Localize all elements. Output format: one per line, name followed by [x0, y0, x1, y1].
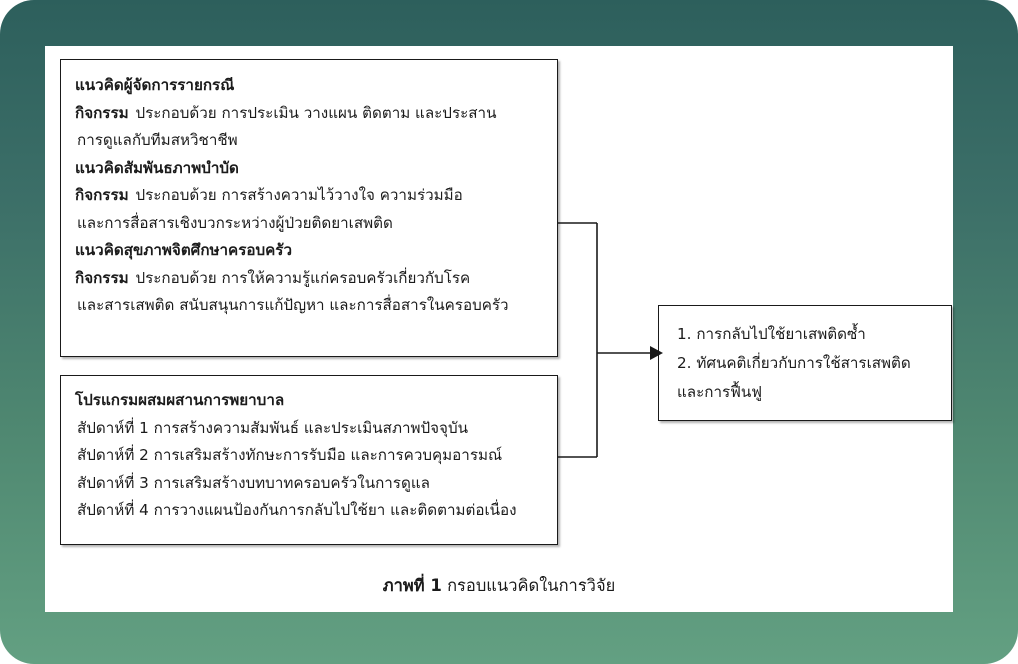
concepts-line: แนวคิดสุขภาพจิตศึกษาครอบครัว [75, 237, 543, 265]
figure-caption-label: ภาพที่ 1 [383, 576, 442, 595]
program-line-rest: สัปดาห์ที่ 4 การวางแผนป้องกันการกลับไปใช… [77, 501, 517, 519]
program-line-lead: โปรแกรมผสมผสานการพยาบาล [75, 391, 284, 409]
concepts-line-lead: กิจกรรม [75, 186, 129, 204]
figure-page: แนวคิดผู้จัดการรายกรณี กิจกรรม ประกอบด้ว… [45, 46, 953, 612]
concepts-line-rest: ประกอบด้วย การให้ความรู้แก่ครอบครัวเกี่ย… [131, 269, 471, 287]
concepts-line: แนวคิดสัมพันธภาพบำบัด [75, 155, 543, 183]
program-line-rest: สัปดาห์ที่ 2 การเสริมสร้างทักษะการรับมือ… [77, 446, 502, 464]
program-line-rest: สัปดาห์ที่ 1 การสร้างความสัมพันธ์ และประ… [77, 419, 468, 437]
outcomes-line-rest: 1. การกลับไปใช้ยาเสพติดซ้ำ [677, 325, 866, 343]
program-line: โปรแกรมผสมผสานการพยาบาล [75, 387, 543, 415]
outcomes-line-rest: และการฟื้นฟู [677, 383, 762, 401]
program-line: สัปดาห์ที่ 3 การเสริมสร้างบทบาทครอบครัวใ… [75, 470, 543, 498]
outcomes-line: และการฟื้นฟู [675, 378, 935, 407]
program-box: โปรแกรมผสมผสานการพยาบาล สัปดาห์ที่ 1 การ… [60, 375, 558, 545]
concepts-line-rest: ประกอบด้วย การประเมิน วางแผน ติดตาม และป… [131, 104, 497, 122]
concepts-line-rest: และสารเสพติด สนับสนุนการแก้ปัญหา และการส… [77, 296, 509, 314]
concepts-line-lead: กิจกรรม [75, 269, 129, 287]
concepts-line-rest: ประกอบด้วย การสร้างความไว้วางใจ ความร่วม… [131, 186, 463, 204]
concepts-line: กิจกรรม ประกอบด้วย การสร้างความไว้วางใจ … [75, 182, 543, 210]
figure-caption-text: กรอบแนวคิดในการวิจัย [447, 576, 615, 595]
slide-background: แนวคิดผู้จัดการรายกรณี กิจกรรม ประกอบด้ว… [0, 0, 1018, 664]
program-line: สัปดาห์ที่ 1 การสร้างความสัมพันธ์ และประ… [75, 415, 543, 443]
concepts-line: กิจกรรม ประกอบด้วย การประเมิน วางแผน ติด… [75, 100, 543, 128]
concepts-line-rest: การดูแลกับทีมสหวิชาชีพ [77, 131, 238, 149]
concepts-line: และสารเสพติด สนับสนุนการแก้ปัญหา และการส… [75, 292, 543, 320]
concepts-line-lead: แนวคิดผู้จัดการรายกรณี [75, 76, 234, 94]
concepts-line: กิจกรรม ประกอบด้วย การให้ความรู้แก่ครอบค… [75, 265, 543, 293]
outcomes-box: 1. การกลับไปใช้ยาเสพติดซ้ำ 2. ทัศนคติเกี… [658, 305, 952, 421]
program-line-rest: สัปดาห์ที่ 3 การเสริมสร้างบทบาทครอบครัวใ… [77, 474, 430, 492]
program-line: สัปดาห์ที่ 4 การวางแผนป้องกันการกลับไปใช… [75, 497, 543, 525]
concepts-line-lead: กิจกรรม [75, 104, 129, 122]
outcomes-line-rest: 2. ทัศนคติเกี่ยวกับการใช้สารเสพติด [677, 354, 911, 372]
concepts-line-rest: และการสื่อสารเชิงบวกระหว่างผู้ป่วยติดยาเ… [77, 214, 393, 232]
outcomes-line: 1. การกลับไปใช้ยาเสพติดซ้ำ [675, 320, 935, 349]
concepts-line: แนวคิดผู้จัดการรายกรณี [75, 72, 543, 100]
concepts-line: การดูแลกับทีมสหวิชาชีพ [75, 127, 543, 155]
concepts-line-lead: แนวคิดสุขภาพจิตศึกษาครอบครัว [75, 241, 292, 259]
figure-caption: ภาพที่ 1 กรอบแนวคิดในการวิจัย [45, 573, 953, 599]
outcomes-line: 2. ทัศนคติเกี่ยวกับการใช้สารเสพติด [675, 349, 935, 378]
concepts-box: แนวคิดผู้จัดการรายกรณี กิจกรรม ประกอบด้ว… [60, 59, 558, 357]
concepts-line-lead: แนวคิดสัมพันธภาพบำบัด [75, 159, 239, 177]
program-line: สัปดาห์ที่ 2 การเสริมสร้างทักษะการรับมือ… [75, 442, 543, 470]
concepts-line: และการสื่อสารเชิงบวกระหว่างผู้ป่วยติดยาเ… [75, 210, 543, 238]
